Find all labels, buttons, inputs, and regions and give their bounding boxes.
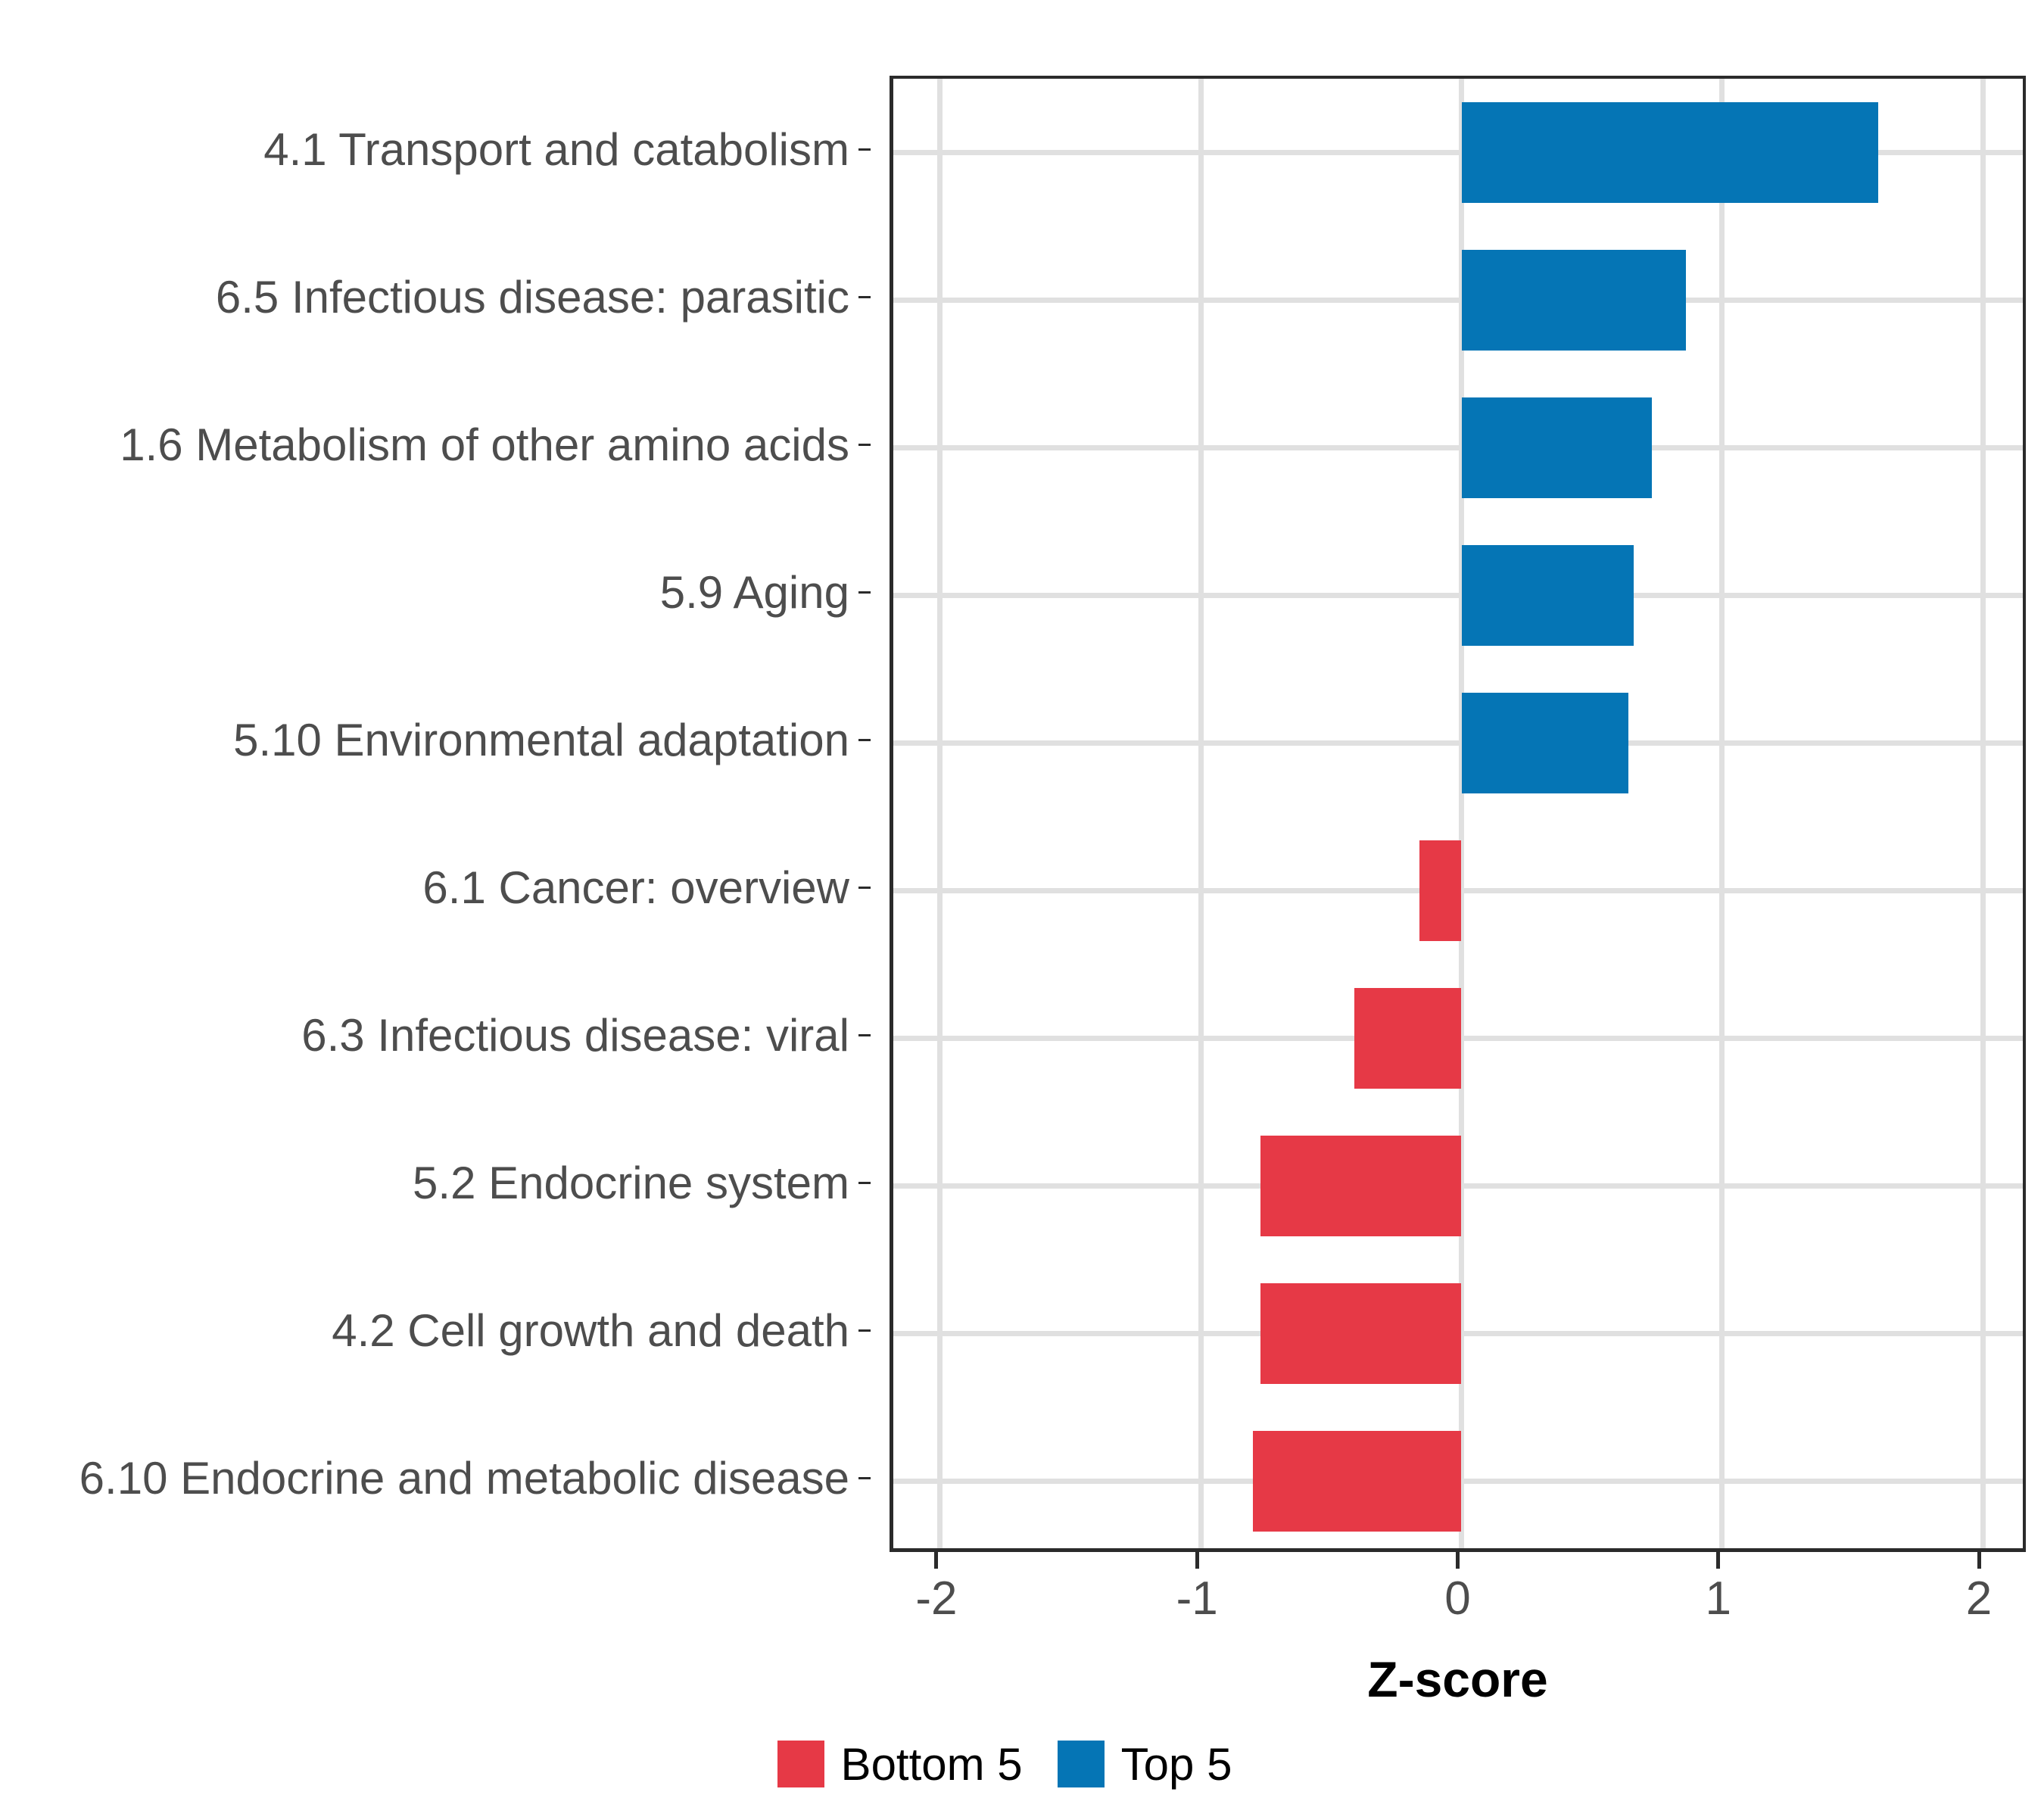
bar[interactable] — [1260, 1283, 1461, 1384]
x-axis-tick-label: -1 — [1176, 1572, 1218, 1625]
x-axis-tick-label: 2 — [1966, 1572, 1992, 1625]
y-axis-tick-mark — [858, 887, 871, 889]
bar[interactable] — [1253, 1431, 1461, 1532]
x-axis-title: Z-score — [890, 1650, 2026, 1708]
chart-legend: Bottom 5Top 5 — [0, 1730, 2044, 1798]
y-gridline — [893, 298, 2023, 303]
y-axis-tick-mark — [858, 739, 871, 741]
bar[interactable] — [1462, 102, 1879, 203]
legend-swatch-icon — [1058, 1741, 1105, 1787]
legend-label: Bottom 5 — [841, 1738, 1023, 1791]
y-axis-labels: 4.1 Transport and catabolism6.5 Infectio… — [0, 76, 871, 1552]
x-axis-tick-mark — [1195, 1552, 1199, 1569]
x-axis-tick-mark — [1977, 1552, 1981, 1569]
plot-area — [893, 79, 2023, 1548]
bar[interactable] — [1419, 840, 1461, 941]
y-axis-tick-mark — [858, 1182, 871, 1184]
legend-swatch-icon — [777, 1741, 824, 1787]
x-axis-tick-label: 0 — [1444, 1572, 1470, 1625]
x-axis-tick-mark — [1456, 1552, 1460, 1569]
y-axis-tick-mark — [858, 148, 871, 151]
x-axis-tick-mark — [1716, 1552, 1720, 1569]
legend-item[interactable]: Top 5 — [1058, 1738, 1267, 1791]
x-axis-tick-mark — [934, 1552, 938, 1569]
bar[interactable] — [1462, 545, 1634, 646]
legend-label: Top 5 — [1121, 1738, 1232, 1791]
bar[interactable] — [1462, 250, 1686, 351]
x-axis-tick-label: -2 — [915, 1572, 957, 1625]
chart-figure: 4.1 Transport and catabolism6.5 Infectio… — [0, 0, 2044, 1817]
y-axis-tick-mark — [858, 444, 871, 446]
y-gridline — [893, 445, 2023, 450]
y-axis-tick-mark — [858, 1477, 871, 1479]
y-gridline — [893, 740, 2023, 746]
y-axis-tick-mark — [858, 1329, 871, 1332]
y-gridline — [893, 593, 2023, 598]
plot-panel — [890, 76, 2026, 1552]
x-axis-ticks: -2-1012 — [890, 1552, 2026, 1575]
y-axis-tick-mark — [858, 591, 871, 594]
x-axis-tick-label: 1 — [1706, 1572, 1731, 1625]
bar[interactable] — [1354, 988, 1461, 1089]
y-axis-tick-mark — [858, 1034, 871, 1036]
bar[interactable] — [1462, 693, 1628, 793]
bar[interactable] — [1462, 397, 1652, 498]
bar[interactable] — [1260, 1136, 1461, 1236]
legend-item[interactable]: Bottom 5 — [777, 1738, 1058, 1791]
y-axis-tick-mark — [858, 296, 871, 298]
